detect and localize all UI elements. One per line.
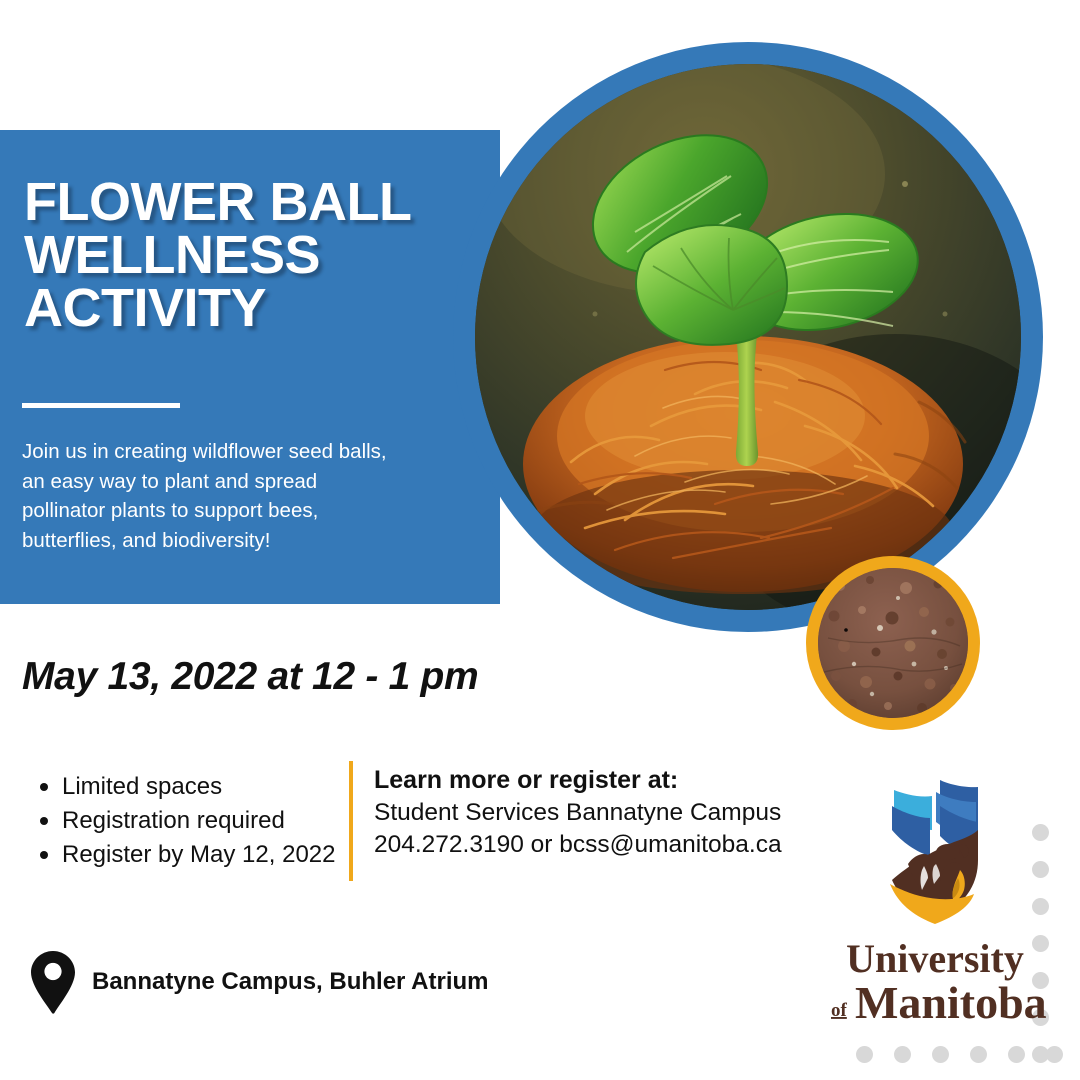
decorative-dot	[894, 1046, 911, 1063]
decorative-dot	[970, 1046, 987, 1063]
headline-line-1: FLOWER BALL	[24, 176, 484, 229]
list-item: Register by May 12, 2022	[62, 838, 335, 872]
headline-line-3: ACTIVITY	[24, 282, 484, 335]
event-location: Bannatyne Campus, Buhler Atrium	[30, 950, 489, 1014]
registration-info: Learn more or register at: Student Servi…	[374, 764, 782, 862]
decorative-dot	[1046, 1046, 1063, 1063]
decorative-dot	[932, 1046, 949, 1063]
list-item: Limited spaces	[62, 770, 335, 804]
decorative-dot	[1008, 1046, 1025, 1063]
university-of-manitoba-shield-icon	[874, 772, 996, 930]
blurb-line-1: Join us in creating wildflower seed ball…	[22, 437, 442, 467]
map-pin-icon	[30, 950, 76, 1014]
seedling-photo-art	[475, 64, 1021, 610]
event-date-time: May 13, 2022 at 12 - 1 pm	[22, 655, 478, 699]
soil-photo	[818, 568, 968, 718]
event-notes-list: Limited spaces Registration required Reg…	[30, 770, 335, 872]
register-contact[interactable]: 204.272.3190 or bcss@umanitoba.ca	[374, 829, 782, 862]
blurb-line-3: pollinator plants to support bees,	[22, 496, 442, 526]
wordmark-of: of	[831, 1000, 848, 1021]
vertical-gold-divider	[349, 761, 353, 881]
decorative-dot	[856, 1046, 873, 1063]
poster-canvas: FLOWER BALL WELLNESS ACTIVITY Join us in…	[0, 0, 1080, 1080]
list-item: Registration required	[62, 804, 335, 838]
description-text: Join us in creating wildflower seed ball…	[22, 437, 442, 556]
university-of-manitoba-logo: University of Manitoba	[812, 772, 1058, 1024]
headline-line-2: WELLNESS	[24, 229, 484, 282]
university-of-manitoba-wordmark: University of Manitoba	[817, 936, 1053, 1024]
title-divider-rule	[22, 403, 180, 408]
blurb-line-2: an easy way to plant and spread	[22, 467, 442, 497]
soil-photo-art	[818, 568, 968, 718]
wordmark-university: University	[846, 936, 1024, 981]
seedling-photo	[475, 64, 1021, 610]
blurb-line-4: butterflies, and biodiversity!	[22, 526, 442, 556]
location-label: Bannatyne Campus, Buhler Atrium	[92, 968, 489, 996]
register-heading: Learn more or register at:	[374, 764, 782, 797]
page-title: FLOWER BALL WELLNESS ACTIVITY	[24, 176, 484, 335]
wordmark-manitoba: Manitoba	[855, 977, 1047, 1024]
register-office: Student Services Bannatyne Campus	[374, 797, 782, 830]
